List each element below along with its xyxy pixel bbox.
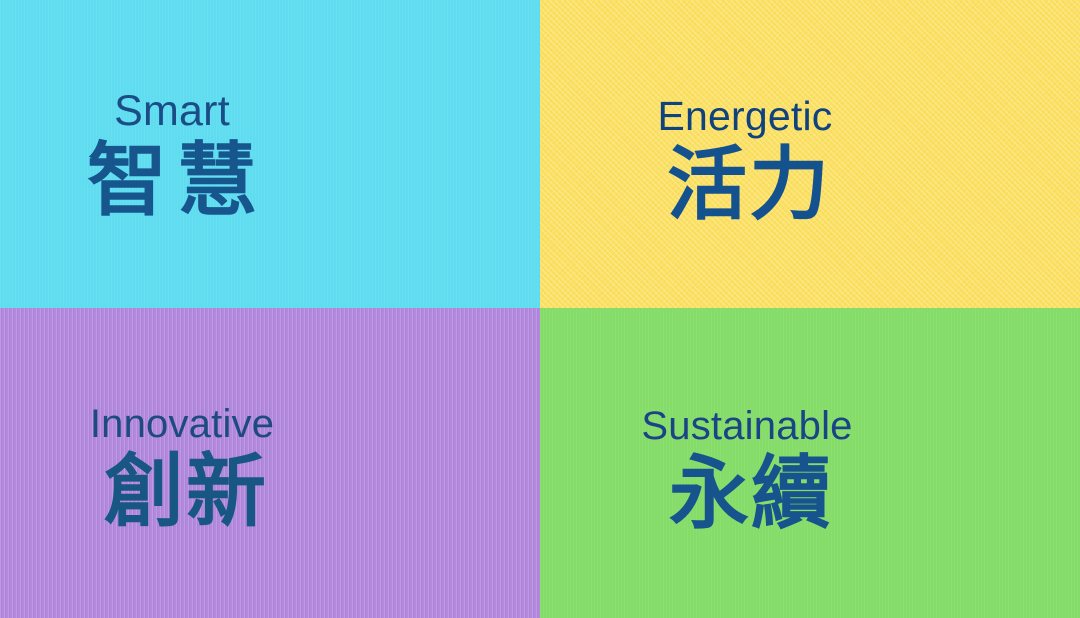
quadrant-energetic[interactable]: Energetic 活力 [540, 0, 1080, 308]
value-block-sustainable: Sustainable 永續 [566, 406, 928, 534]
value-block-smart: Smart 智慧 [0, 90, 344, 221]
value-block-energetic: Energetic 活力 [576, 96, 914, 225]
brand-values-canvas: Smart 智慧 Energetic 活力 Innovative 創新 Sust… [0, 0, 1080, 618]
value-label-en-innovative: Innovative [0, 404, 364, 444]
value-block-innovative: Innovative 創新 [0, 404, 364, 532]
value-label-cjk-smart: 智慧 [0, 141, 344, 221]
value-label-cjk-innovative: 創新 [0, 452, 364, 532]
quadrant-innovative[interactable]: Innovative 創新 [0, 308, 540, 618]
values-grid: Smart 智慧 Energetic 活力 Innovative 創新 Sust… [0, 0, 1080, 618]
value-label-en-sustainable: Sustainable [566, 406, 928, 446]
value-label-cjk-energetic: 活力 [576, 145, 914, 225]
value-label-en-energetic: Energetic [576, 96, 914, 137]
value-label-cjk-sustainable: 永續 [566, 454, 928, 534]
quadrant-smart[interactable]: Smart 智慧 [0, 0, 540, 308]
value-label-en-smart: Smart [0, 90, 344, 133]
quadrant-sustainable[interactable]: Sustainable 永續 [540, 308, 1080, 618]
